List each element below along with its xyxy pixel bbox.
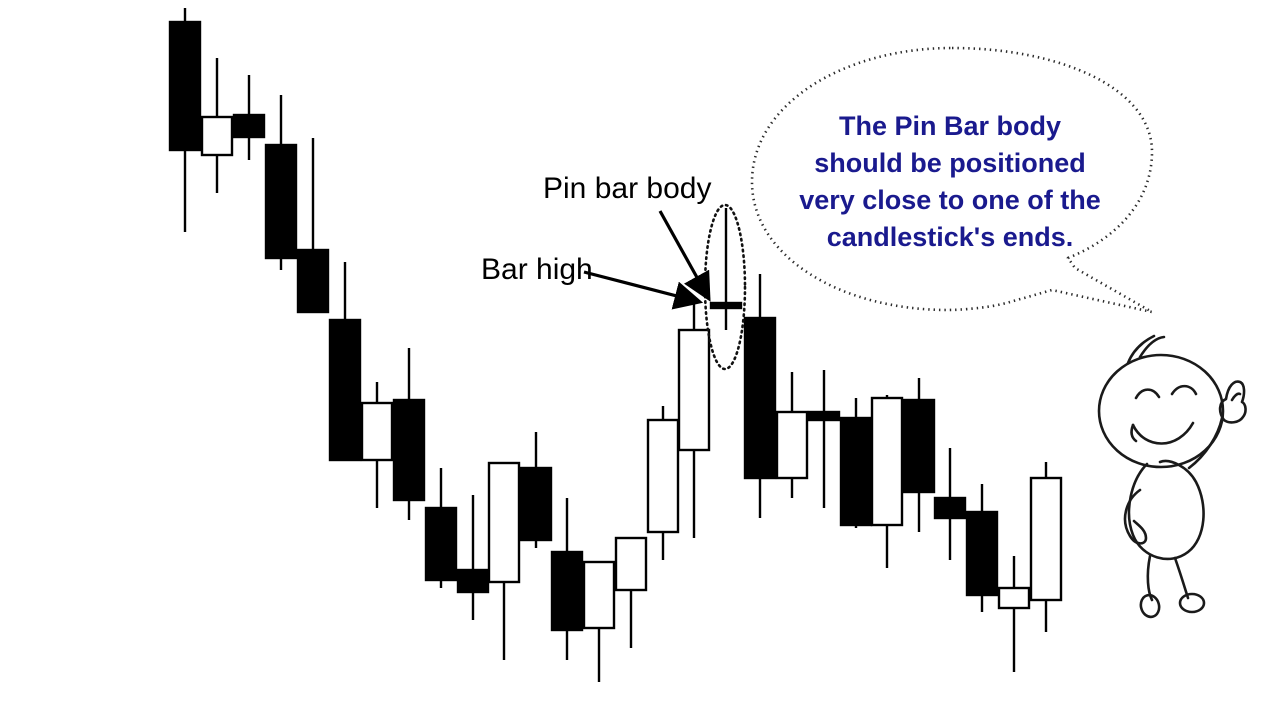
character-raised-arm	[1189, 418, 1222, 468]
character-right-leg	[1175, 558, 1188, 598]
character-right-foot	[1180, 594, 1204, 612]
illustration-canvas: Pin bar body Bar high The Pin Bar body s…	[0, 0, 1276, 701]
character-left-eye-icon	[1136, 390, 1159, 398]
character-finger-detail	[1232, 394, 1240, 400]
character-smile-icon	[1133, 423, 1193, 444]
character-right-eye-icon	[1172, 386, 1196, 394]
stick-figure-character	[0, 0, 1276, 701]
character-head	[1099, 355, 1223, 467]
character-left-leg	[1148, 556, 1152, 600]
